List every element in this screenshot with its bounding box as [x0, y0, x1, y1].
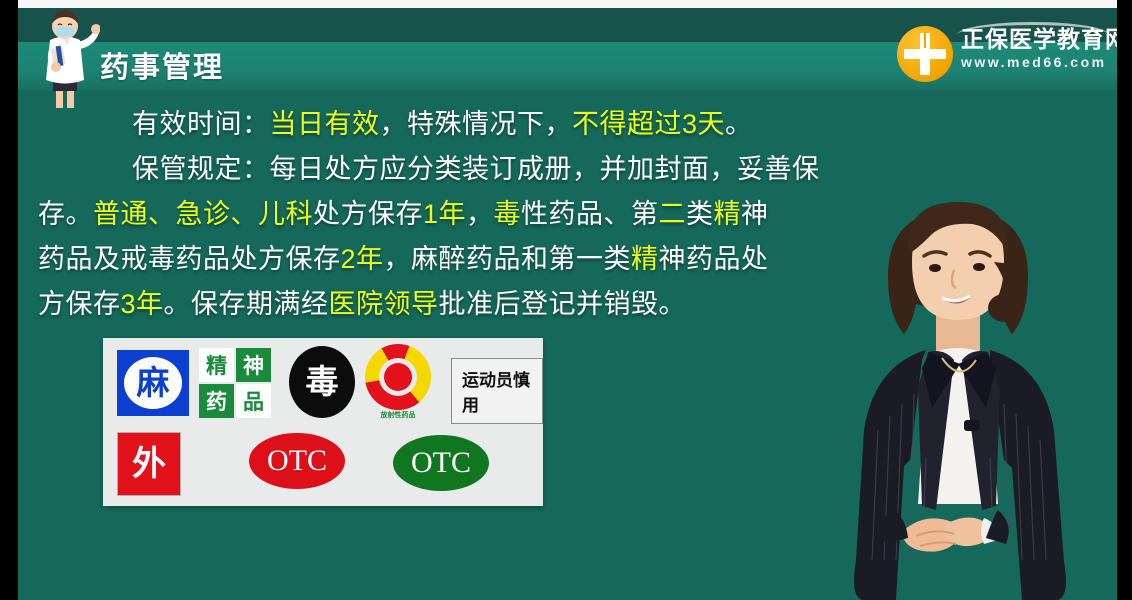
brand-name: 正保医学教育网: [961, 26, 1109, 52]
video-frame: 药事管理 正保医学教育网 www.med66.com 有效时间：当日有效，特殊情…: [0, 0, 1132, 600]
radioactive-caption: 放射性药品: [358, 410, 438, 420]
psychotropic-drug-symbol: 精 神 药 品: [199, 348, 271, 418]
segment: ，特殊情况下，: [380, 109, 573, 139]
external-use-symbol: 外: [117, 432, 181, 496]
top-letterbox: [0, 0, 1132, 8]
text-line-storage-2: 存。普通、急诊、儿科处方保存1年，毒性药品、第二类精神: [38, 192, 858, 237]
segment-highlight: 普通、急诊、儿科: [93, 199, 313, 229]
header-band-fade: [18, 90, 1117, 102]
segment: 存。: [38, 199, 93, 229]
text-line-storage-4: 方保存3年。保存期满经医院领导批准后登记并销毁。: [38, 282, 858, 327]
segment-highlight: 当日有效: [270, 109, 380, 139]
segment: 类: [686, 199, 714, 229]
segment: 方保存: [38, 289, 121, 319]
segment: 神: [741, 199, 769, 229]
text-line-storage-3: 药品及戒毒药品处方保存2年，麻醉药品和第一类精神药品处: [38, 237, 858, 282]
psychotropic-cell: 神: [236, 348, 271, 382]
segment-highlight: 医院领导: [329, 289, 439, 319]
narcotic-label: 麻: [117, 350, 189, 416]
athlete-caution-label: 运动员慎用: [451, 358, 543, 424]
toxic-label: 毒: [289, 346, 355, 418]
drug-symbol-panel: 麻 精 神 药 品 毒 放射性药品 运动员慎用 外 OTC: [103, 338, 543, 506]
slide-canvas: 药事管理 正保医学教育网 www.med66.com 有效时间：当日有效，特殊情…: [18, 8, 1117, 600]
segment-highlight: 二: [659, 199, 687, 229]
otc-green-symbol: OTC: [393, 435, 489, 491]
segment: 药品及戒毒药品处方保存: [38, 244, 341, 274]
segment: 性药品、第: [521, 199, 659, 229]
slide-body-text: 有效时间：当日有效，特殊情况下，不得超过3天。 保管规定：每日处方应分类装订成册…: [38, 102, 858, 327]
otc-green-label: OTC: [393, 435, 489, 491]
cartoon-doctor-icon: [30, 8, 100, 110]
left-letterbox: [0, 0, 18, 600]
segment-highlight: 不得超过3天: [572, 109, 725, 139]
segment: ，: [466, 199, 494, 229]
otc-red-label: OTC: [249, 433, 345, 489]
segment-highlight: 毒: [494, 199, 522, 229]
otc-red-symbol: OTC: [249, 433, 345, 489]
psychotropic-cell: 精: [199, 348, 234, 382]
external-use-label: 外: [118, 433, 180, 495]
segment: ，麻醉药品和第一类: [384, 244, 632, 274]
segment-highlight: 精: [631, 244, 659, 274]
segment: 处方保存: [313, 199, 423, 229]
radioactive-drug-symbol: 放射性药品: [365, 344, 431, 410]
brand-logo: 正保医学教育网 www.med66.com: [897, 22, 1109, 88]
text-line-validity: 有效时间：当日有效，特殊情况下，不得超过3天。: [38, 102, 858, 147]
segment-highlight: 2年: [341, 244, 384, 274]
text-line-storage-1: 保管规定：每日处方应分类装订成册，并加封面，妥善保: [38, 147, 858, 192]
psychotropic-cell: 品: [236, 384, 271, 418]
page-title: 药事管理: [100, 44, 224, 86]
segment: 。保存期满经: [164, 289, 329, 319]
brand-url: www.med66.com: [961, 52, 1109, 72]
segment-highlight: 1年: [423, 199, 466, 229]
right-letterbox: [1117, 0, 1132, 600]
segment-highlight: 3年: [121, 289, 164, 319]
segment: 批准后登记并销毁。: [439, 289, 687, 319]
segment: 保管规定：每日处方应分类装订成册，并加封面，妥善保: [132, 154, 820, 184]
segment: 神药品处: [659, 244, 769, 274]
segment-highlight: 精: [714, 199, 742, 229]
psychotropic-cell: 药: [199, 384, 234, 418]
toxic-drug-symbol: 毒: [289, 346, 355, 418]
segment: 有效时间：: [132, 109, 270, 139]
segment: 。: [725, 109, 753, 139]
narcotic-drug-symbol: 麻: [117, 350, 189, 416]
presenter-figure: [808, 158, 1108, 600]
medical-cross-badge-icon: [897, 26, 953, 82]
